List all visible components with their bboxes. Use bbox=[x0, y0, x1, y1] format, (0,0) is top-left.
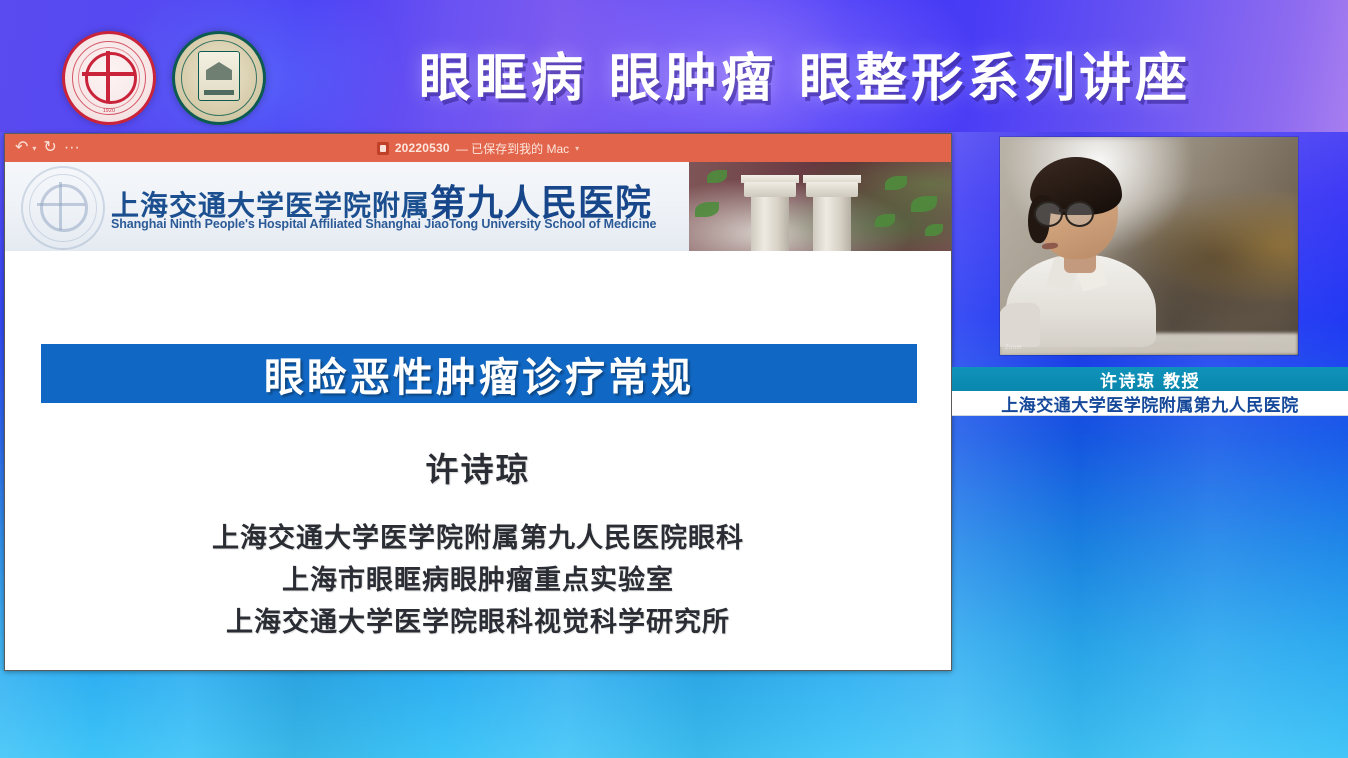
document-title-group[interactable]: 20220530 — 已保存到我的 Mac ▾ bbox=[5, 140, 951, 157]
ivy-leaf bbox=[911, 196, 937, 212]
document-chevron-down-icon[interactable]: ▾ bbox=[575, 144, 579, 153]
ivy-leaf bbox=[695, 202, 719, 217]
logo-building-icon bbox=[206, 62, 232, 80]
slide-title: 眼睑恶性肿瘤诊疗常规 bbox=[264, 345, 694, 403]
ivy-leaf bbox=[885, 176, 907, 190]
glasses-lens-left bbox=[1034, 201, 1063, 227]
column-capital bbox=[744, 182, 796, 197]
ivy-leaf bbox=[875, 214, 895, 227]
header-title: 眼眶病 眼肿瘤 眼整形系列讲座 bbox=[310, 36, 1300, 111]
slide-presenter-name: 许诗琼 bbox=[5, 443, 951, 491]
shanghai-ninth-hospital-logo: 1920 bbox=[62, 31, 156, 125]
speaker-arm bbox=[1000, 303, 1040, 347]
powerpoint-titlebar[interactable]: ↶ ▾ ↻ ··· 20220530 — 已保存到我的 Mac ▾ bbox=[5, 134, 951, 162]
powerpoint-file-icon bbox=[377, 142, 389, 155]
affiliation-line: 上海交通大学医学院眼科视觉科学研究所 bbox=[5, 602, 951, 644]
speaker-video-feed[interactable]: Zoom bbox=[1000, 137, 1298, 355]
column-capital bbox=[806, 182, 858, 197]
ivy-leaf bbox=[707, 170, 727, 183]
watermark-circle bbox=[40, 184, 88, 232]
glasses-lens-right bbox=[1065, 201, 1094, 227]
glasses-icon bbox=[1034, 201, 1096, 223]
powerpoint-window[interactable]: ↶ ▾ ↻ ··· 20220530 — 已保存到我的 Mac ▾ bbox=[4, 133, 952, 671]
slide-banner-english-title: Shanghai Ninth People's Hospital Affilia… bbox=[111, 217, 656, 231]
speaker-nameplate: 许诗琼 教授 上海交通大学医学院附属第九人民医院 bbox=[952, 367, 1348, 416]
logo-year-text: 1920 bbox=[65, 108, 153, 114]
logo-shield bbox=[198, 51, 240, 101]
nameplate-org-band: 上海交通大学医学院附属第九人民医院 bbox=[952, 391, 1348, 416]
logo-shield-base bbox=[204, 90, 234, 95]
broadcast-header-banner: 1920 眼眶病 眼肿瘤 眼整形系列讲座 bbox=[0, 0, 1348, 132]
affiliation-line: 上海交通大学医学院附属第九人民医院眼科 bbox=[5, 518, 951, 560]
slide-canvas[interactable]: 上海交通大学医学院附属第九人民医院 Shanghai Ninth People'… bbox=[5, 162, 951, 670]
redo-icon[interactable]: ↻ bbox=[43, 140, 56, 156]
screen: 1920 眼眶病 眼肿瘤 眼整形系列讲座 ↶ ▾ ↻ ··· 20220530 … bbox=[0, 0, 1348, 758]
slide-affiliations: 上海交通大学医学院附属第九人民医院眼科 上海市眼眶病眼肿瘤重点实验室 上海交通大… bbox=[5, 518, 951, 644]
speaker-name: 许诗琼 教授 bbox=[1100, 367, 1200, 392]
speaker-figure bbox=[1006, 147, 1156, 355]
undo-chevron-down-icon[interactable]: ▾ bbox=[32, 144, 36, 153]
undo-icon[interactable]: ↶ bbox=[15, 140, 28, 156]
campus-columns-photo bbox=[689, 162, 951, 251]
logo-circle-mark bbox=[85, 52, 137, 104]
titlebar-quick-actions: ↶ ▾ ↻ ··· bbox=[5, 140, 80, 156]
overflow-menu-icon[interactable]: ··· bbox=[64, 140, 80, 156]
affiliation-line: 上海市眼眶病眼肿瘤重点实验室 bbox=[5, 560, 951, 602]
shanghai-jiaotong-university-logo bbox=[172, 31, 266, 125]
glasses-bridge bbox=[1059, 209, 1066, 212]
document-save-state: — 已保存到我的 Mac bbox=[456, 140, 569, 157]
watermark-vertical-bar bbox=[59, 182, 62, 230]
column-right bbox=[813, 195, 851, 251]
video-watermark: Zoom bbox=[1005, 345, 1022, 351]
slide-title-bar[interactable]: 眼睑恶性肿瘤诊疗常规 bbox=[41, 344, 917, 403]
hospital-watermark-logo bbox=[21, 166, 105, 250]
ivy-leaf bbox=[925, 224, 943, 236]
speaker-organization: 上海交通大学医学院附属第九人民医院 bbox=[1001, 391, 1299, 416]
column-left bbox=[751, 195, 789, 251]
nameplate-name-band: 许诗琼 教授 bbox=[952, 367, 1348, 391]
document-name: 20220530 bbox=[395, 141, 450, 155]
slide-header-banner: 上海交通大学医学院附属第九人民医院 Shanghai Ninth People'… bbox=[5, 162, 951, 251]
logo-vertical-bar bbox=[106, 51, 110, 103]
